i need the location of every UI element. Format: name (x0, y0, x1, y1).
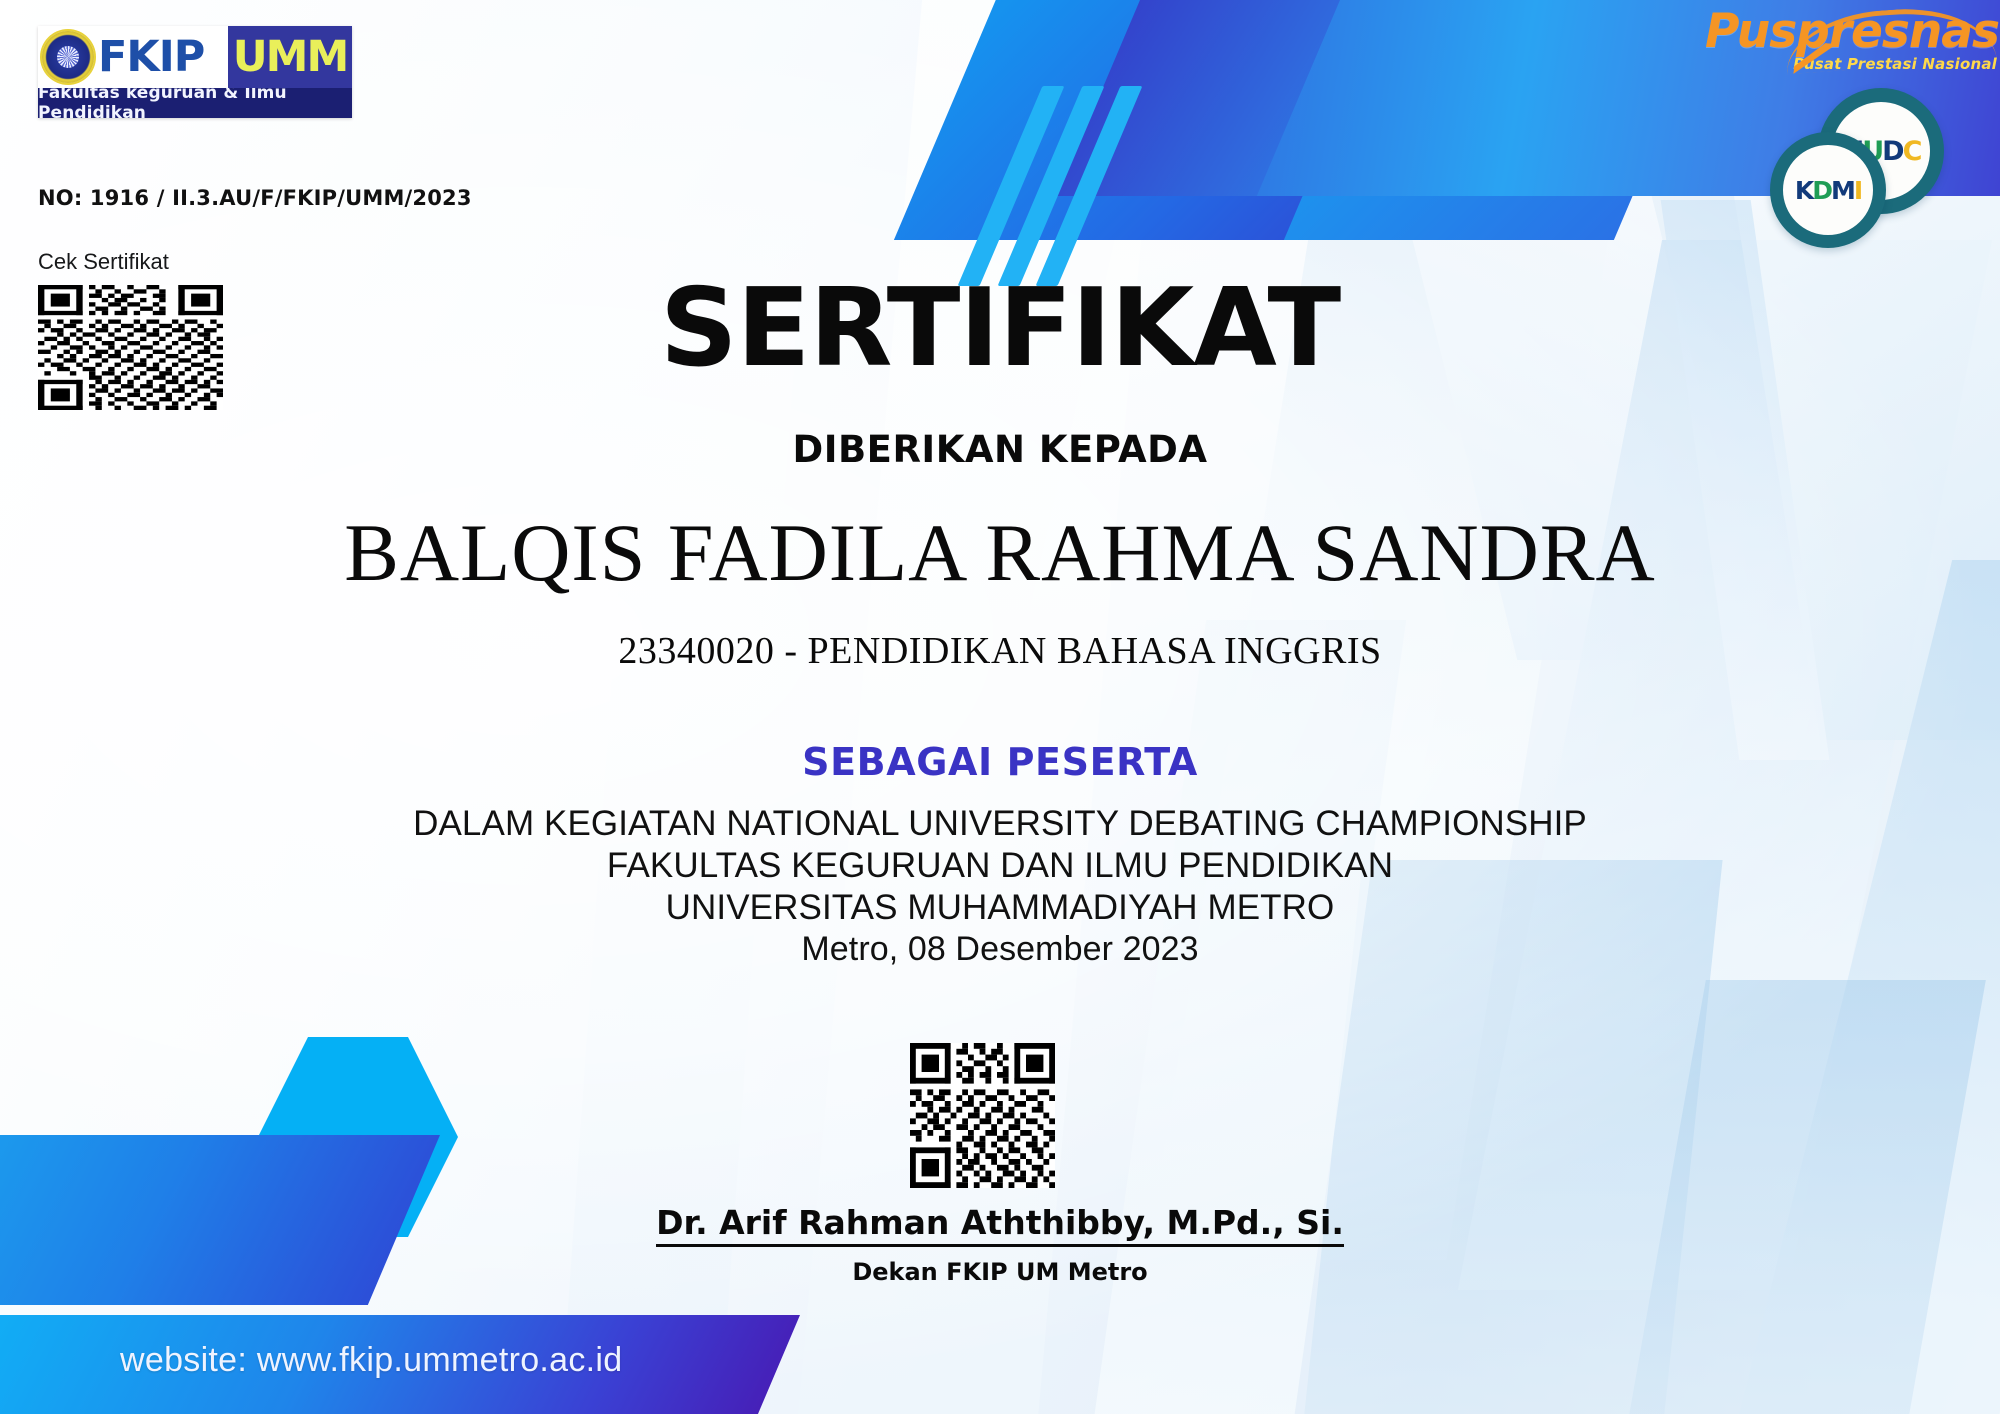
certificate-number: NO: 1916 / II.3.AU/F/FKIP/UMM/2023 (38, 186, 472, 210)
signature-qr-code[interactable] (910, 1043, 1055, 1188)
kdmi-badge-icon: KDMI (1770, 132, 1886, 248)
participation-role: SEBAGAI PESERTA (0, 740, 2000, 784)
fkip-tagline: Fakultas keguruan & Ilmu Pendidikan (38, 88, 352, 118)
page-title: SERTIFIKAT (0, 275, 2000, 383)
recipient-program: 23340020 - PENDIDIKAN BAHASA INGGRIS (0, 629, 2000, 673)
event-line-2: FAKULTAS KEGURUAN DAN ILMU PENDIDIKAN (0, 845, 2000, 887)
puspresnas-logo: Puspresnas Pusat Prestasi Nasional (1737, 4, 1999, 76)
event-place-date: Metro, 08 Desember 2023 (0, 929, 2000, 970)
footer-website: website: www.fkip.ummetro.ac.id (120, 1341, 622, 1380)
certificate-canvas: Puspresnas Pusat Prestasi Nasional NUDC … (0, 0, 2000, 1414)
event-line-1: DALAM KEGIATAN NATIONAL UNIVERSITY DEBAT… (0, 803, 2000, 845)
signatory-name-text: Dr. Arif Rahman Aththibby, M.Pd., Si. (656, 1203, 1344, 1247)
awarded-to-label: DIBERIKAN KEPADA (0, 428, 2000, 471)
check-certificate-label: Cek Sertifikat (38, 249, 169, 275)
fkip-logo-left: FKIP (38, 26, 228, 88)
fkip-umm-logo: FKIP UMM Fakultas keguruan & Ilmu Pendid… (38, 26, 352, 118)
bottom-left-parallelogram (0, 1135, 440, 1305)
recipient-name: BALQIS FADILA RAHMA SANDRA (0, 510, 2000, 596)
fkip-logo-top: FKIP UMM (38, 26, 352, 88)
event-description: DALAM KEGIATAN NATIONAL UNIVERSITY DEBAT… (0, 803, 2000, 970)
event-line-3: UNIVERSITAS MUHAMMADIYAH METRO (0, 887, 2000, 929)
umm-wordmark: UMM (233, 32, 348, 82)
fkip-logo-right: UMM (228, 26, 352, 88)
fkip-wordmark: FKIP (98, 32, 204, 82)
university-seal-icon (42, 31, 94, 83)
kdmi-badge-label: KDMI (1795, 176, 1861, 205)
